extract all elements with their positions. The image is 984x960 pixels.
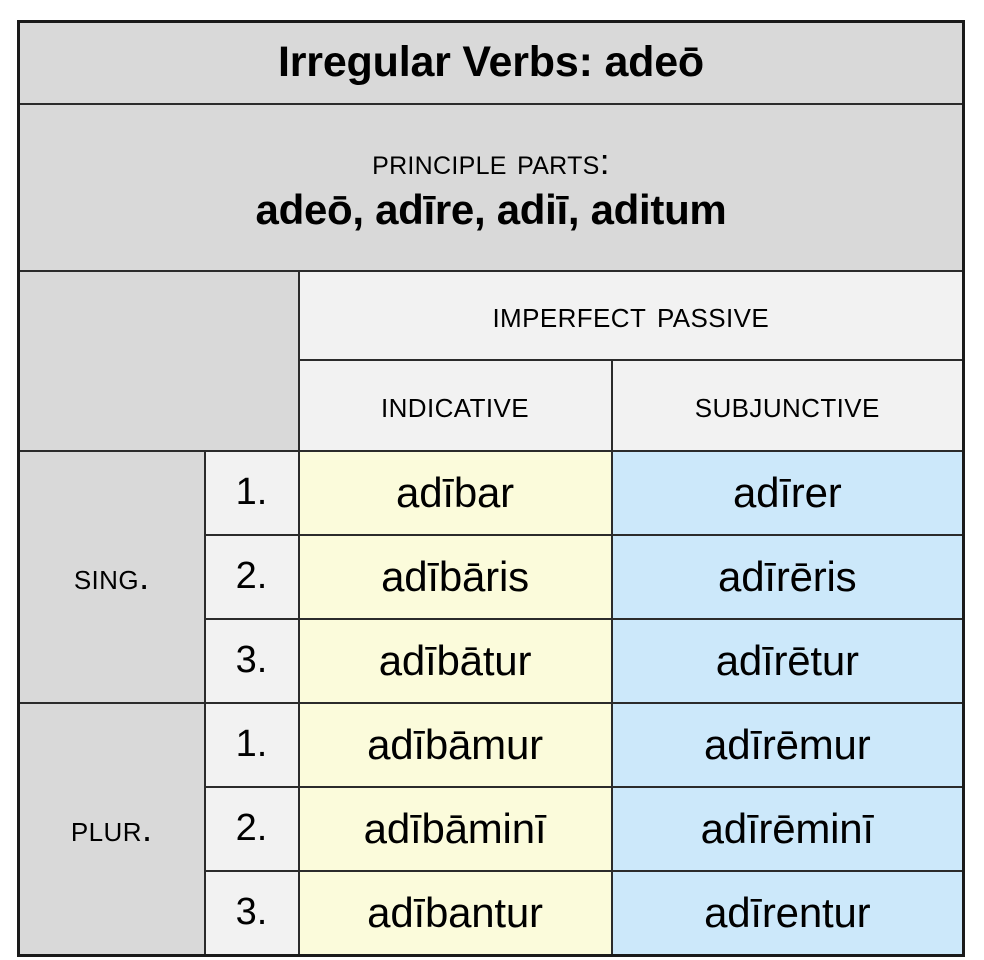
form-subjunctive: adīrētur [612, 619, 964, 703]
group-header-row: Imperfect Passive [19, 271, 964, 360]
principle-parts-row: Principle Parts: adeō, adīre, adiī, adit… [19, 104, 964, 271]
table-row: Sing. 1. adībar adīrer [19, 451, 964, 535]
form-indicative: adībāris [299, 535, 612, 619]
header-imperfect-passive: Imperfect Passive [299, 271, 964, 360]
person-number: 1. [205, 703, 299, 787]
form-indicative: adībātur [299, 619, 612, 703]
header-subjunctive: Subjunctive [612, 360, 964, 451]
person-number: 2. [205, 535, 299, 619]
form-subjunctive: adīrentur [612, 871, 964, 956]
form-indicative: adībantur [299, 871, 612, 956]
corner-blank-cell [19, 271, 299, 451]
form-indicative: adībāmur [299, 703, 612, 787]
person-number: 3. [205, 619, 299, 703]
title-row: Irregular Verbs: adeō [19, 22, 964, 105]
page-title: Irregular Verbs: adeō [19, 22, 964, 105]
principle-parts-label: Principle Parts: [20, 143, 962, 181]
form-subjunctive: adīrēminī [612, 787, 964, 871]
form-subjunctive: adīrēmur [612, 703, 964, 787]
form-subjunctive: adīrer [612, 451, 964, 535]
principle-parts-forms: adeō, adīre, adiī, aditum [20, 188, 962, 232]
form-indicative: adībar [299, 451, 612, 535]
header-indicative: Indicative [299, 360, 612, 451]
row-label-singular: Sing. [19, 451, 205, 703]
form-indicative: adībāminī [299, 787, 612, 871]
row-label-plural: Plur. [19, 703, 205, 956]
principle-parts-cell: Principle Parts: adeō, adīre, adiī, adit… [19, 104, 964, 271]
person-number: 2. [205, 787, 299, 871]
table-row: Plur. 1. adībāmur adīrēmur [19, 703, 964, 787]
verb-conjugation-table: Irregular Verbs: adeō Principle Parts: a… [17, 20, 965, 957]
person-number: 1. [205, 451, 299, 535]
person-number: 3. [205, 871, 299, 956]
form-subjunctive: adīrēris [612, 535, 964, 619]
